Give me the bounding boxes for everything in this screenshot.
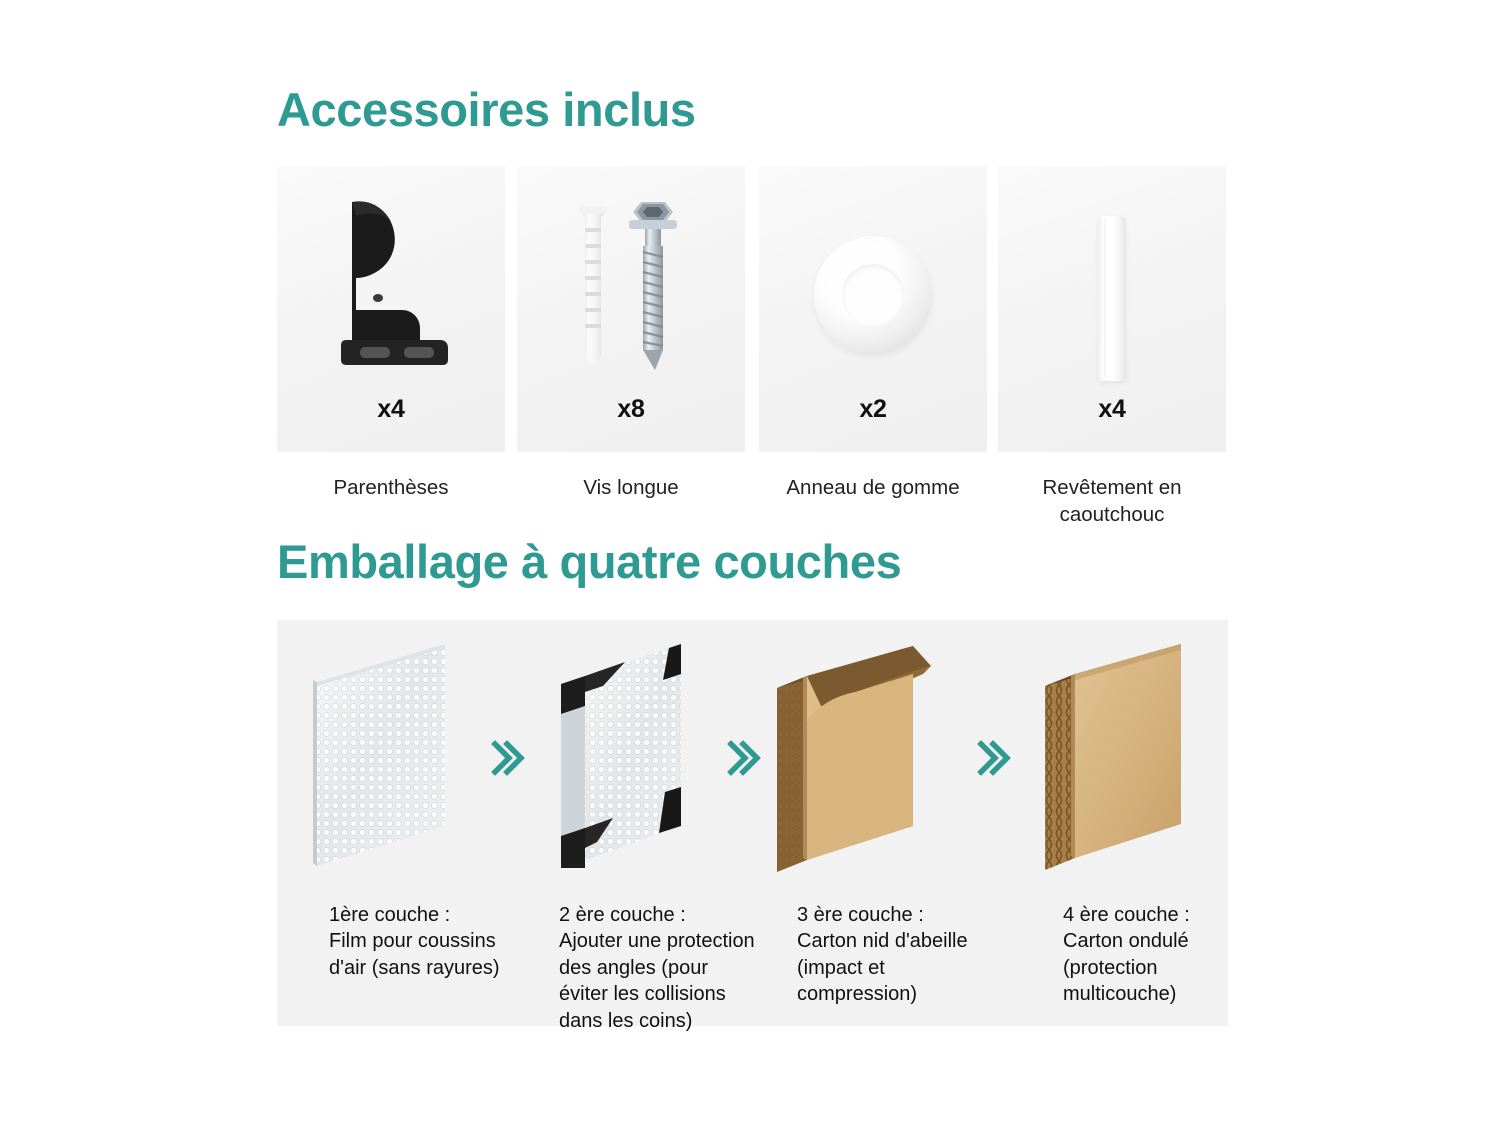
packaging-step-description: Ajouter une protection des angles (pour …	[559, 928, 759, 1034]
packaging-step-title: 3 ère couche :	[797, 902, 997, 928]
accessory-quantity: x4	[277, 395, 505, 424]
packaging-step-description: Film pour coussins d'air (sans rayures)	[329, 928, 529, 981]
accessory-quantity: x8	[517, 395, 745, 424]
packaging-step-description: Carton nid d'abeille (impact et compress…	[797, 928, 997, 1007]
accessory-item-ring: x2 Anneau de gomme	[759, 166, 987, 501]
packaging-step-title: 1ère couche :	[329, 902, 529, 928]
packaging-step-1: 1ère couche : Film pour coussins d'air (…	[295, 620, 513, 1026]
bubble-wrap-sheet-icon	[295, 630, 513, 880]
accessory-card: x2	[759, 166, 987, 452]
honeycomb-cardboard-icon	[763, 630, 981, 880]
accessory-item-sleeve: x4 Revêtement en caoutchouc	[998, 166, 1226, 529]
packaging-step-title: 2 ère couche :	[559, 902, 759, 928]
accessory-item-screw: x8 Vis longue	[517, 166, 745, 501]
packaging-step-3: 3 ère couche : Carton nid d'abeille (imp…	[763, 620, 981, 1026]
accessory-label: Vis longue	[517, 474, 745, 501]
accessory-label: Anneau de gomme	[759, 474, 987, 501]
corrugated-cardboard-icon	[1029, 630, 1247, 880]
accessory-card: x4	[998, 166, 1226, 452]
wall-bracket-icon	[277, 166, 505, 396]
rubber-sleeve-icon	[998, 166, 1226, 396]
accessory-quantity: x2	[759, 395, 987, 424]
packaging-step-text: 2 ère couche : Ajouter une protection de…	[559, 902, 759, 1034]
accessory-quantity: x4	[998, 395, 1226, 424]
packaging-step-description: Carton ondulé (protection multicouche)	[1063, 928, 1263, 1007]
packaging-step-text: 3 ère couche : Carton nid d'abeille (imp…	[797, 902, 997, 1008]
packaging-step-2: 2 ère couche : Ajouter une protection de…	[525, 620, 743, 1026]
corner-protector-icon	[525, 630, 743, 880]
packaging-heading: Emballage à quatre couches	[277, 538, 901, 585]
accessories-heading: Accessoires inclus	[277, 86, 696, 133]
packaging-steps-panel: 1ère couche : Film pour coussins d'air (…	[277, 620, 1228, 1026]
accessory-card: x4	[277, 166, 505, 452]
accessory-label: Parenthèses	[277, 474, 505, 501]
accessories-list: x4 Parenthèses	[277, 166, 1225, 526]
double-chevron-right-icon	[727, 738, 761, 778]
infographic-page: Accessoires inclus x4 Parenthèses	[0, 0, 1500, 1125]
accessory-card: x8	[517, 166, 745, 452]
double-chevron-right-icon	[491, 738, 525, 778]
rubber-ring-icon	[759, 166, 987, 396]
packaging-step-text: 4 ère couche : Carton ondulé (protection…	[1063, 902, 1263, 1008]
double-chevron-right-icon	[977, 738, 1011, 778]
packaging-step-4: 4 ère couche : Carton ondulé (protection…	[1029, 620, 1247, 1026]
packaging-step-title: 4 ère couche :	[1063, 902, 1263, 928]
packaging-step-text: 1ère couche : Film pour coussins d'air (…	[329, 902, 529, 981]
accessory-item-bracket: x4 Parenthèses	[277, 166, 505, 501]
accessory-label: Revêtement en caoutchouc	[998, 474, 1226, 529]
screw-and-anchor-icon	[517, 166, 745, 396]
